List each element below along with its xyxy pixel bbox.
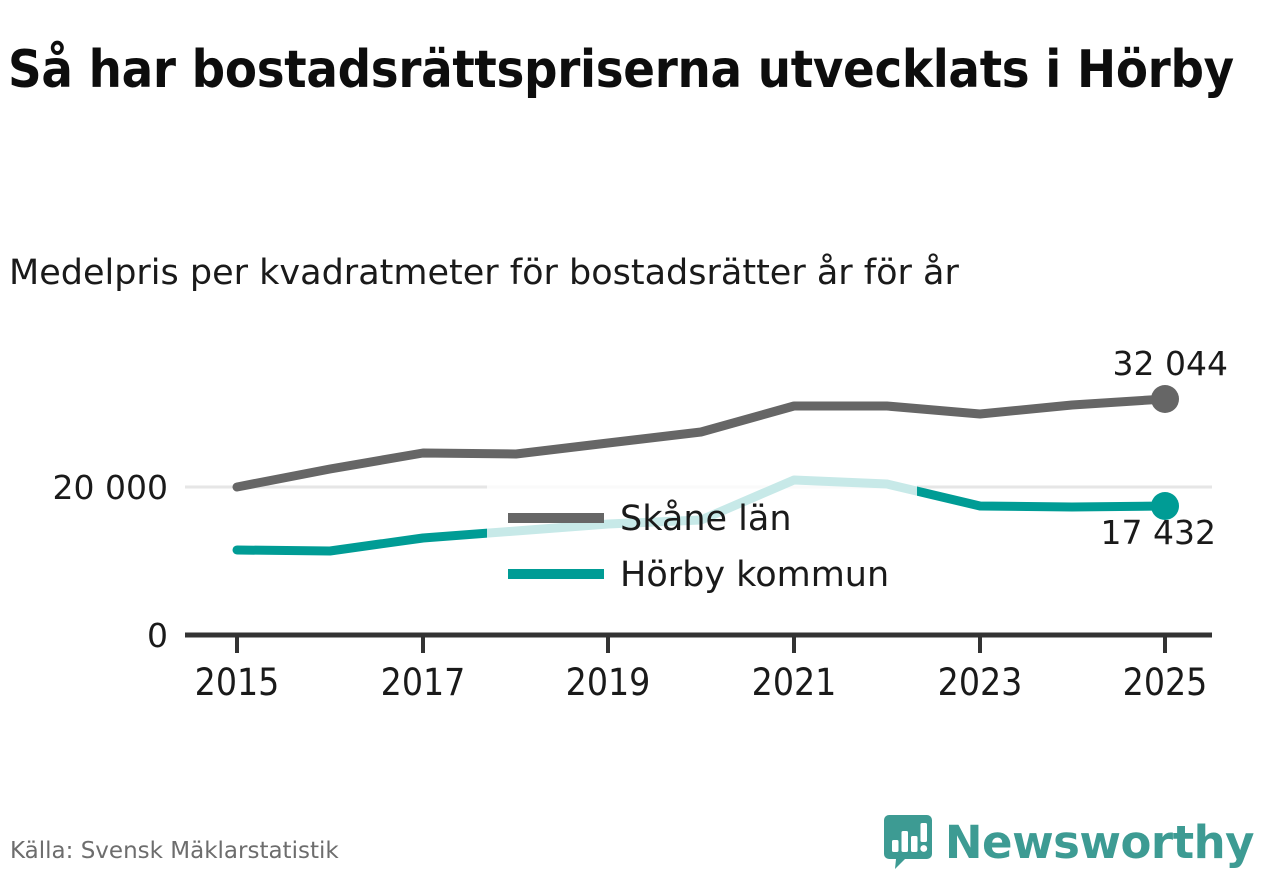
ytick-label-20000: 20 000 <box>53 468 168 507</box>
xtick-label-2023: 2023 <box>938 661 1023 704</box>
page-title: Så har bostadsrättspriserna utvecklats i… <box>8 41 1248 100</box>
end-marker-skane-lan <box>1151 385 1179 413</box>
chart-subtitle: Medelpris per kvadratmeter för bostadsrä… <box>9 252 1249 294</box>
xtick-label-2019: 2019 <box>566 661 651 704</box>
end-label-horby-kommun: 17 432 <box>1101 513 1216 552</box>
infographic-page: Så har bostadsrättspriserna utvecklats i… <box>0 0 1262 879</box>
x-axis-ticks <box>237 635 1165 653</box>
end-label-skane-lan: 32 044 <box>1113 344 1228 383</box>
xtick-label-2025: 2025 <box>1123 661 1208 704</box>
chart-svg: Skåne län Hörby kommun 32 044 17 432 20 … <box>0 330 1262 720</box>
xtick-label-2015: 2015 <box>195 661 280 704</box>
speech-bubble-bar-chart-icon <box>883 814 933 870</box>
source-credit: Källa: Svensk Mäklarstatistik <box>10 838 339 864</box>
line-chart: Skåne län Hörby kommun 32 044 17 432 20 … <box>0 330 1262 720</box>
legend-label-skane-lan: Skåne län <box>620 498 792 539</box>
xtick-label-2021: 2021 <box>752 661 837 704</box>
series-line-skane-lan <box>237 399 1165 487</box>
ytick-label-0: 0 <box>147 616 168 655</box>
newsworthy-logo: Newsworthy <box>883 812 1254 872</box>
logo-wordmark: Newsworthy <box>945 820 1254 865</box>
legend-label-horby-kommun: Hörby kommun <box>620 555 889 595</box>
xtick-label-2017: 2017 <box>381 661 466 704</box>
x-axis-labels: 2015 2017 2019 2021 2023 2025 <box>195 661 1208 704</box>
